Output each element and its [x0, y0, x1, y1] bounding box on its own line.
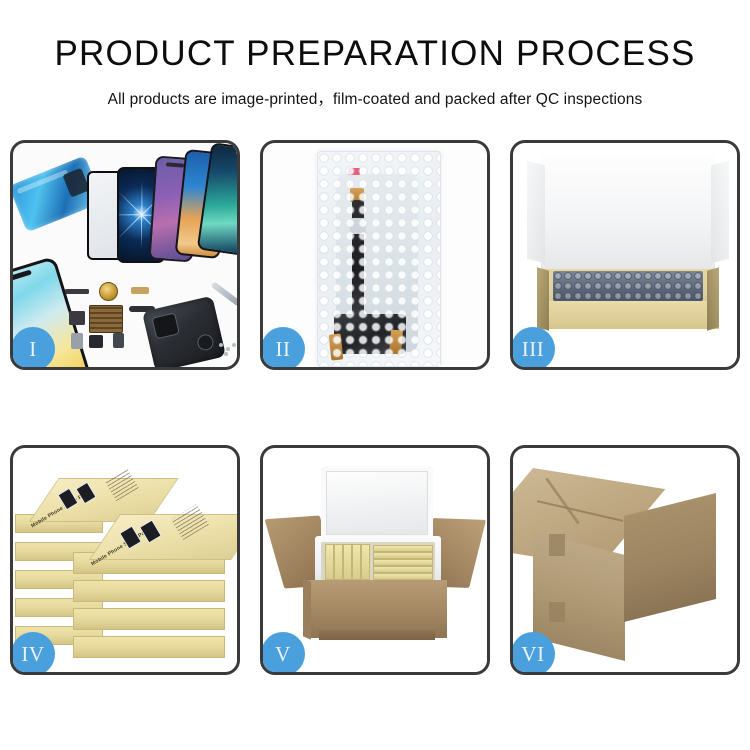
connector-grid-part [89, 305, 123, 333]
shipping-carton-base [319, 630, 435, 640]
grey-bubble-wrap-contents [553, 271, 703, 301]
gold-contact-left [329, 333, 344, 360]
kraft-box-left-wall [537, 267, 549, 330]
step-panel-2[interactable]: II [260, 140, 490, 370]
bracket-part [69, 311, 85, 325]
stacked-box [73, 580, 225, 602]
process-step-grid: I II III [10, 140, 740, 675]
stacked-box [73, 608, 225, 630]
step-badge-2: II [261, 327, 305, 370]
stacked-box [73, 636, 225, 658]
step-badge-5: V [261, 632, 305, 675]
step-panel-1[interactable]: I [10, 140, 240, 370]
step-badge-6: VI [511, 632, 555, 675]
gold-contact-right [389, 330, 403, 355]
vibrator-part [113, 333, 124, 348]
step-panel-3[interactable]: III [510, 140, 740, 370]
sim-tray-part [71, 333, 83, 349]
white-box-lid [541, 157, 715, 275]
flex-cable [352, 200, 364, 318]
step-badge-4: IV [11, 632, 55, 675]
step-badge-1: I [11, 327, 55, 370]
screws-group [219, 343, 237, 355]
page-subtitle: All products are image-printed，film-coat… [0, 87, 750, 109]
pink-label-tag [348, 168, 360, 175]
page-title: PRODUCT PREPARATION PROCESS [0, 36, 750, 71]
step-badge-3: III [511, 327, 555, 370]
kraft-box-front-face [537, 301, 719, 329]
gold-bracket-part [131, 287, 149, 294]
step-panel-5[interactable]: V [260, 445, 490, 675]
kraft-box-right-wall [707, 267, 719, 330]
taptic-coil-part [99, 282, 118, 301]
camera-module-part [89, 335, 103, 348]
styrofoam-lid [321, 466, 433, 540]
page-header: PRODUCT PREPARATION PROCESS All products… [0, 0, 750, 109]
packed-yellow-boxes [321, 542, 435, 580]
bubble-wrap-package [317, 151, 441, 367]
speaker-mesh-part [65, 289, 89, 294]
carton-tape-patch [549, 602, 565, 622]
carton-tape-patch [549, 534, 565, 556]
step-panel-4[interactable]: Mobile Phone Spare Parts Mobile Phone Sp… [10, 445, 240, 675]
step-panel-6[interactable]: VI [510, 445, 740, 675]
